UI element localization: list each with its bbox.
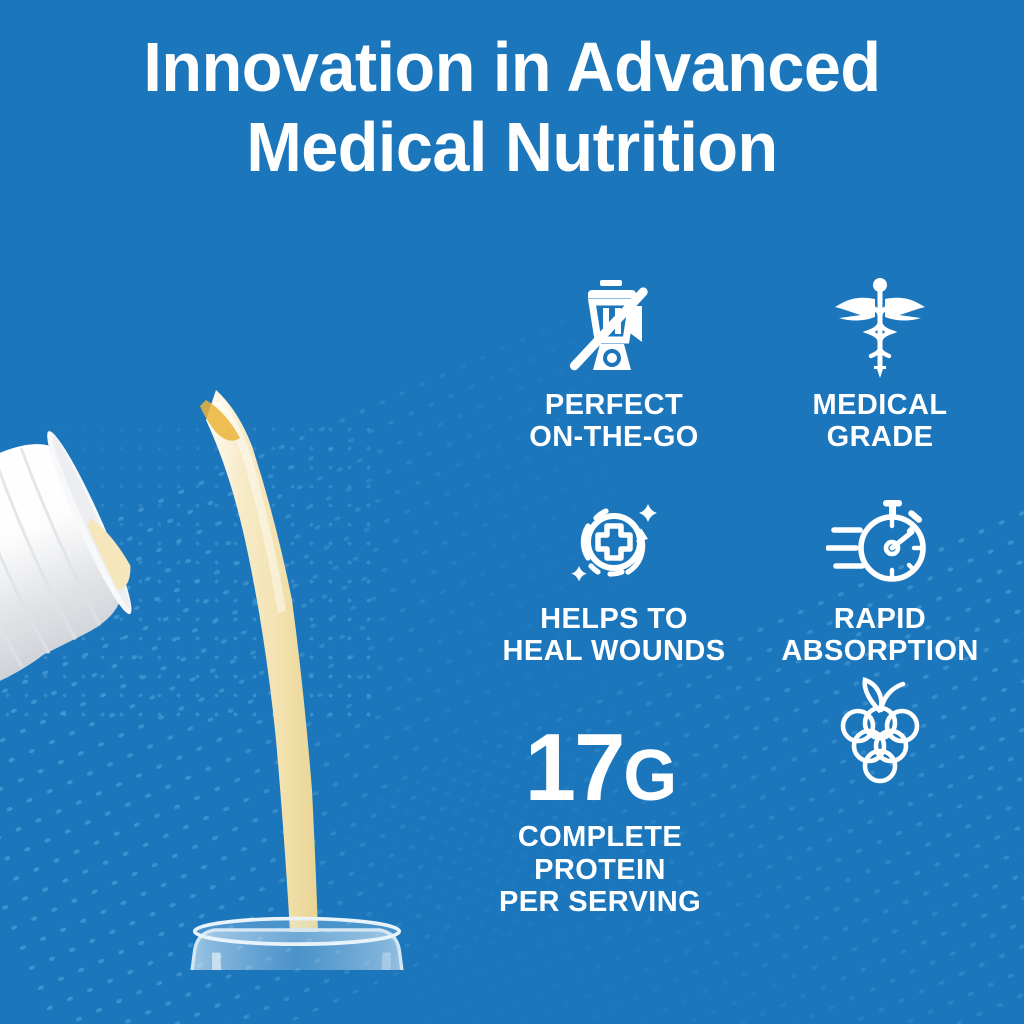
feature-rapid-absorption: RAPID ABSORPTION xyxy=(752,486,1008,668)
protein-caption: COMPLETE PROTEIN PER SERVING xyxy=(472,821,728,918)
protein-value: 17 xyxy=(525,714,624,821)
drinking-glass xyxy=(169,919,439,970)
feature-caption: PERFECT ON-THE-GO xyxy=(486,390,742,454)
feature-helps-to-heal-wounds: HELPS TO HEAL WOUNDS xyxy=(486,486,742,668)
feature-caption: HELPS TO HEAL WOUNDS xyxy=(486,604,742,668)
stopwatch-icon xyxy=(752,486,1008,594)
no-blender-icon xyxy=(486,272,742,380)
feature-medical-grade: MEDICAL GRADE xyxy=(752,272,1008,454)
pour-stream xyxy=(206,390,318,932)
product-photo: BERRY FLAVOR ESSENTIAL xyxy=(0,270,470,970)
feature-protein-stat: 17G COMPLETE PROTEIN PER SERVING xyxy=(472,722,728,919)
feature-berry-flavor xyxy=(752,694,1008,812)
feature-perfect-on-the-go: PERFECT ON-THE-GO xyxy=(486,272,742,454)
feature-grid: PERFECT ON-THE-GO xyxy=(452,262,1024,962)
feature-caption: MEDICAL GRADE xyxy=(752,390,1008,454)
promo-poster: Innovation in Advanced Medical Nutrition xyxy=(0,0,1024,1024)
feature-caption: RAPID ABSORPTION xyxy=(752,604,1008,668)
headline: Innovation in Advanced Medical Nutrition xyxy=(26,28,999,188)
caduceus-icon xyxy=(752,272,1008,380)
headline-line-2: Medical Nutrition xyxy=(26,108,999,188)
grapes-icon xyxy=(752,694,1008,802)
protein-amount: 17G xyxy=(477,722,723,813)
protein-unit: G xyxy=(623,736,675,816)
headline-line-1: Innovation in Advanced xyxy=(26,28,999,108)
healing-cross-icon xyxy=(486,486,742,594)
bottle: BERRY FLAVOR ESSENTIAL xyxy=(0,415,152,770)
